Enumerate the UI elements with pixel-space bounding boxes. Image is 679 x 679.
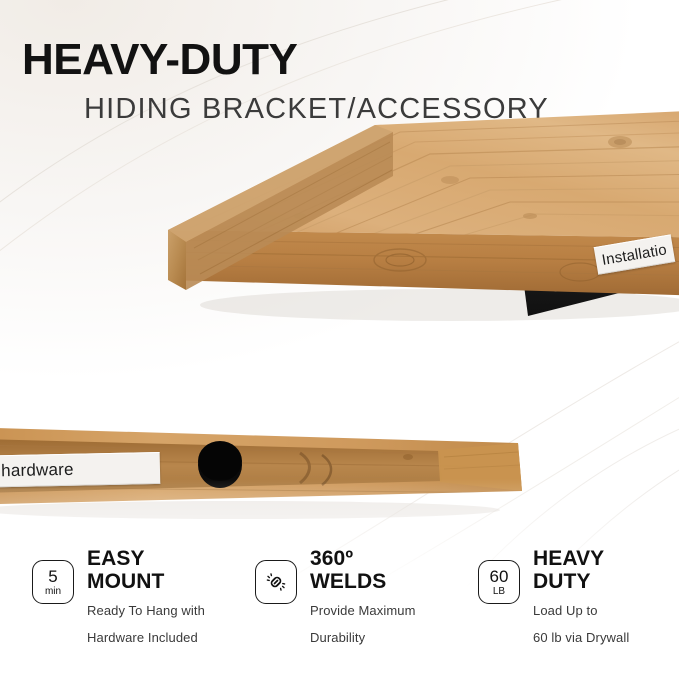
feature-title-line2: MOUNT [87, 571, 205, 594]
headline-block: HEAVY-DUTY HIDING BRACKET/ACCESSORY [22, 38, 662, 124]
feature-title-line1: 360º [310, 548, 416, 571]
feature-text: 360º WELDS Provide Maximum Durability [310, 548, 416, 646]
feature-heavy-duty: 60 LB HEAVY DUTY Load Up to 60 lb via Dr… [456, 548, 679, 668]
badge-5-min: 5 min [32, 560, 74, 604]
feature-text: EASY MOUNT Ready To Hang with Hardware I… [87, 548, 205, 646]
feature-desc-line2: Durability [310, 629, 416, 646]
badge-unit: min [45, 587, 61, 597]
feature-row: 5 min EASY MOUNT Ready To Hang with Hard… [0, 548, 679, 668]
feature-desc-line1: Provide Maximum [310, 602, 416, 619]
feature-desc-line1: Load Up to [533, 602, 629, 619]
feature-title-line2: WELDS [310, 571, 416, 594]
shelf-hero-upper [150, 120, 679, 370]
feature-desc-line2: Hardware Included [87, 629, 205, 646]
badge-60-lb: 60 LB [478, 560, 520, 604]
feature-title-line1: HEAVY [533, 548, 629, 571]
feature-desc-line1: Ready To Hang with [87, 602, 205, 619]
badge-value: 5 [48, 568, 57, 585]
badge-unit: LB [493, 587, 505, 597]
page-title: HEAVY-DUTY [22, 38, 662, 82]
feature-text: HEAVY DUTY Load Up to 60 lb via Drywall [533, 548, 629, 646]
badge-welds [255, 560, 297, 604]
feature-title-line1: EASY [87, 548, 205, 571]
feature-title-line2: DUTY [533, 571, 629, 594]
feature-360-welds: 360º WELDS Provide Maximum Durability [233, 548, 456, 668]
product-marketing-image: HEAVY-DUTY HIDING BRACKET/ACCESSORY [0, 0, 679, 679]
chain-link-weld-icon [264, 570, 288, 594]
feature-easy-mount: 5 min EASY MOUNT Ready To Hang with Hard… [0, 548, 233, 668]
badge-value: 60 [490, 568, 509, 585]
feature-desc-line2: 60 lb via Drywall [533, 629, 629, 646]
